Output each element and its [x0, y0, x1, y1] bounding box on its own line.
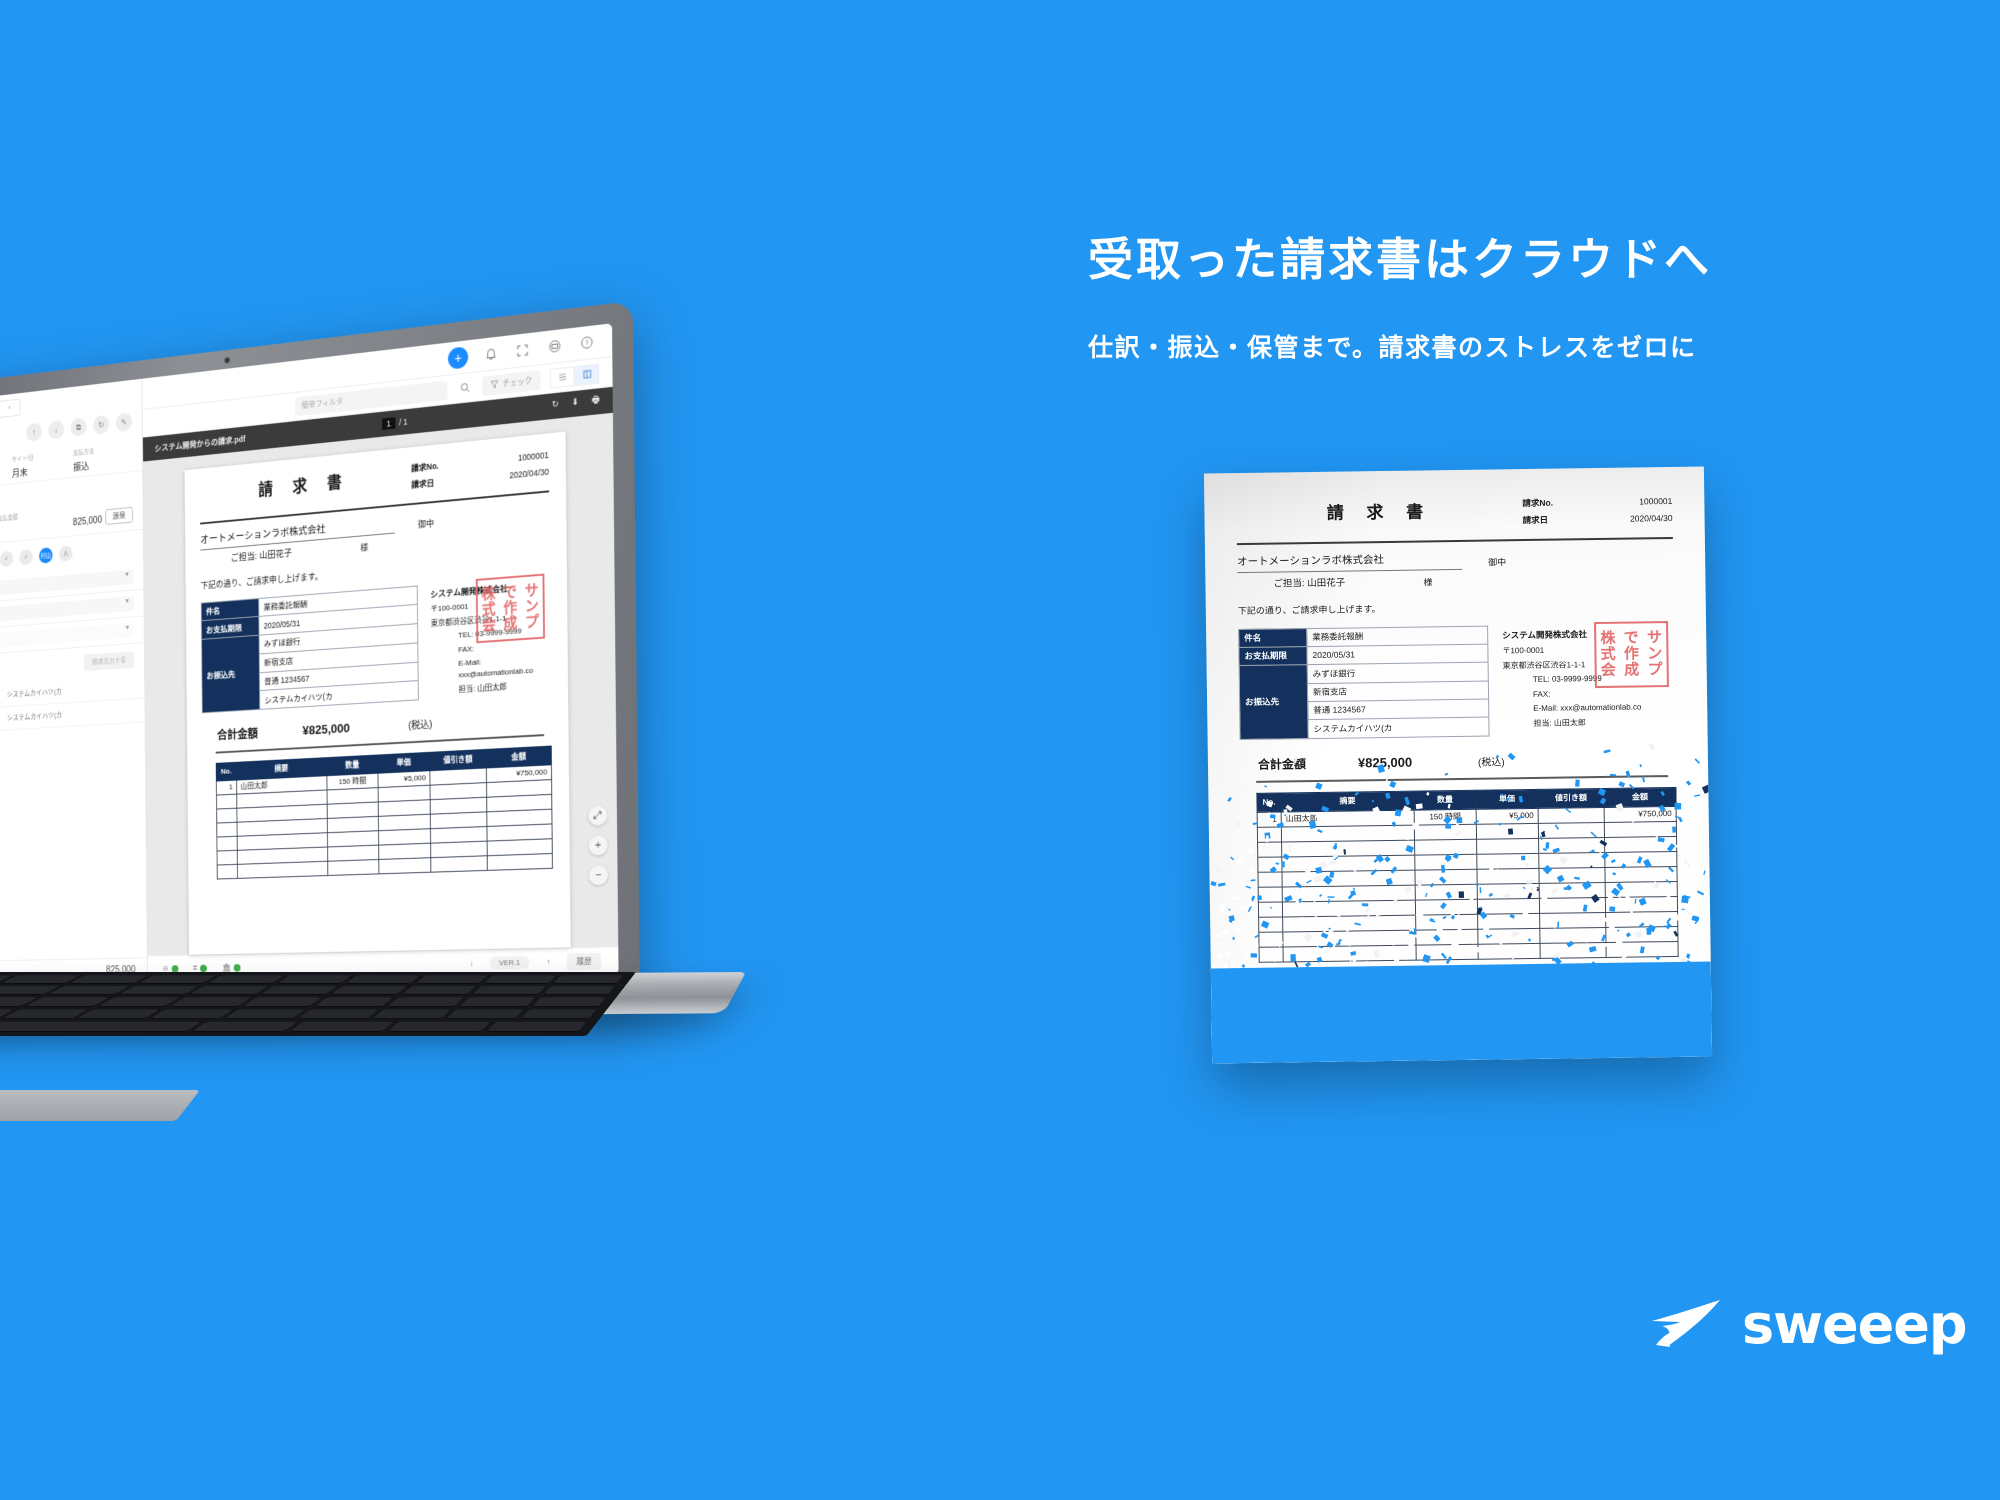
keyboard-key — [446, 1009, 524, 1019]
kv-val: システムカイハツ(カ — [1308, 717, 1489, 738]
hero-background: 受取った請求書はクラウドへ 仕訳・振込・保管まで。請求書のストレスをゼロに sw… — [0, 0, 2000, 1500]
seller-block: システム開発株式会社 〒100-0001 東京都渋谷区渋谷1-1-1 TEL: … — [430, 575, 551, 700]
key-row — [0, 986, 615, 995]
laptop-screen: 2020/09/30 ‹ 前月 › ↑ ↓ ⧉ ↻ — [0, 323, 619, 985]
total-label: 合計金額 — [217, 724, 303, 745]
list-view-icon[interactable] — [550, 366, 575, 388]
stamp-char: サ — [525, 583, 539, 599]
invoice-date-value: 2020/04/30 — [1630, 512, 1673, 525]
onchu-label: 御中 — [1488, 556, 1506, 569]
keyboard-key — [189, 986, 268, 995]
seller-email: E-Mail: xxx@automationlab.co — [1503, 701, 1675, 715]
cell-no: 1 — [216, 780, 236, 795]
col-qty: 数量 — [1414, 791, 1476, 810]
pdf-tool-buttons: ↻ ⬇ 🖶 — [552, 394, 600, 413]
stamp-char: 株 — [482, 586, 496, 602]
invoice-detail-pane: 2020/09/30 ‹ 前月 › ↑ ↓ ⧉ ↻ — [0, 379, 148, 986]
status-dot-green — [200, 964, 207, 972]
field-site-month[interactable]: サイト/月 1ヶ月後 — [0, 455, 9, 486]
keyboard-key — [97, 997, 179, 1006]
pdf-filename: システム開発からの請求.pdf — [154, 433, 245, 454]
filter-placeholder: 簡単フィルタ — [302, 396, 344, 411]
customer-name: オートメーションラボ株式会社 — [1237, 552, 1462, 573]
keyboard-key — [191, 1022, 297, 1032]
sweeep-app: 2020/09/30 ‹ 前月 › ↑ ↓ ⧉ ↻ — [0, 323, 619, 985]
keyboard-key — [542, 986, 614, 995]
laptop-mockup: 2020/09/30 ‹ 前月 › ↑ ↓ ⧉ ↻ — [0, 300, 1010, 1180]
col-no: No. — [1257, 793, 1281, 812]
onchu-label: 御中 — [418, 517, 434, 531]
stamp-char: 会 — [482, 618, 496, 634]
invoice-date-value: 2020/04/30 — [509, 466, 549, 482]
total-tax-note: (税込) — [408, 719, 432, 734]
cell-no: 1 — [1257, 812, 1281, 827]
col-desc: 摘要 — [1281, 791, 1414, 811]
avatar-assignee[interactable]: 村山 — [39, 547, 53, 564]
cell-disc — [1538, 807, 1604, 823]
hero-copy: 受取った請求書はクラウドへ 仕訳・振込・保管まで。請求書のストレスをゼロに — [1088, 234, 1868, 364]
approval-check-icon[interactable]: ✓ — [0, 550, 13, 566]
cell-unit: ¥5,000 — [1476, 808, 1538, 824]
invoice-title: 請 求 書 — [1236, 497, 1522, 528]
approval-check-icon[interactable]: ✓ — [19, 549, 33, 566]
seller-person: 担当: 山田太郎 — [1503, 716, 1675, 730]
sama-label: 様 — [360, 541, 368, 554]
keyboard-key — [207, 975, 284, 983]
keyboard-key — [276, 975, 351, 983]
divider — [1256, 775, 1668, 783]
keyboard-key — [259, 986, 336, 995]
invoice-total-row: 合計金額 ¥825,000 (税込) — [1240, 749, 1676, 774]
mail-icon[interactable] — [546, 336, 563, 356]
keyboard-key — [314, 997, 392, 1006]
kv-key: お振込先 — [1239, 665, 1308, 739]
plus-icon[interactable]: + — [448, 346, 468, 370]
divider — [1237, 537, 1673, 545]
laptop-keyboard — [0, 972, 636, 1036]
invoice-meta: 請求No.1000001 請求日2020/04/30 — [1522, 495, 1672, 532]
check-button[interactable]: チェック — [482, 370, 541, 396]
pdf-zoom-controls: ⤢ + − — [588, 805, 608, 885]
brand-name: sweeep — [1742, 1298, 1967, 1352]
field-payment-method[interactable]: 支払方法 振込 — [73, 442, 133, 474]
cell-qty: 150 時間 — [1414, 809, 1476, 825]
keyboard-key — [388, 1022, 490, 1032]
invoice-no-value: 1000001 — [518, 449, 549, 464]
stamp-char: 作 — [503, 600, 517, 616]
keyboard-key — [69, 975, 148, 983]
contact-label: ご担当: — [231, 551, 258, 564]
laptop-lid: 2020/09/30 ‹ 前月 › ↑ ↓ ⧉ ↻ — [0, 301, 640, 1008]
check-label: チェック — [502, 375, 532, 389]
print-icon[interactable]: 🖶 — [592, 394, 600, 409]
keyboard-key — [76, 1009, 160, 1019]
account-name: システムカイハツ(カ — [7, 710, 62, 723]
pdf-page-separator: / — [399, 417, 401, 427]
pdf-viewer-pane: + ? — [142, 323, 618, 981]
withholding-button[interactable]: 源泉 — [105, 507, 133, 525]
col-unit: 単価 — [1476, 790, 1538, 809]
field-site-day[interactable]: サイト/日 月末 — [12, 448, 70, 479]
invoice-meta: 請求No.1000001 請求日2020/04/30 — [411, 449, 549, 496]
keyboard-key — [414, 975, 487, 983]
svg-text:?: ? — [585, 340, 589, 348]
seller-block: システム開発株式会社 〒100-0001 東京都渋谷区渋谷1-1-1 TEL: … — [1502, 623, 1676, 736]
keyboard-key — [520, 1009, 596, 1019]
stamp-char: 式 — [1601, 647, 1616, 662]
invoice-title: 請 求 書 — [200, 463, 412, 509]
stamp-char: 会 — [1601, 663, 1616, 678]
stamp-char: サ — [1647, 630, 1662, 645]
invoice-items-table: No. 摘要 数量 単価 値引き額 金額 1 — [216, 746, 553, 880]
total-label: 合計金額 — [1258, 755, 1358, 774]
copy-icon[interactable]: ⧉ — [71, 417, 87, 437]
arrow-up-icon[interactable]: ↑ — [26, 422, 42, 442]
kv-key: 件名 — [1239, 628, 1307, 647]
history-button[interactable]: 履歴 — [567, 953, 601, 970]
invoice-detail-table: 件名業務委託報酬 お支払期限2020/05/31 お振込先みずほ銀行 新宿支店 … — [1238, 625, 1490, 739]
total-value: ¥825,000 — [1358, 752, 1478, 773]
stamp-char: ン — [525, 599, 539, 615]
keyboard-key — [372, 1009, 451, 1019]
stamp-char: 成 — [503, 616, 517, 632]
refresh-icon[interactable]: ↻ — [93, 415, 109, 435]
keyboard-key — [242, 997, 321, 1006]
keyboard-key — [401, 986, 476, 995]
keyboard-key — [330, 986, 406, 995]
pdf-current-page[interactable]: 1 — [382, 417, 395, 430]
sample-stamp-icon: 株式会 で作成 サンプ — [476, 573, 545, 643]
keyboard-key — [553, 975, 624, 983]
invoice-no-value: 1000001 — [1639, 495, 1672, 508]
keyboard-key — [290, 1022, 394, 1032]
download-icon[interactable]: ⬇ — [572, 397, 579, 412]
page-subtitle: 仕訳・振込・保管まで。請求書のストレスをゼロに — [1088, 328, 1868, 364]
keyboard-key — [1, 1009, 87, 1019]
expand-icon[interactable] — [514, 340, 531, 360]
rotate-icon[interactable]: ↻ — [552, 399, 559, 414]
fit-icon[interactable]: ⤢ — [588, 805, 607, 826]
col-no: No. — [216, 762, 236, 780]
help-icon[interactable]: ? — [578, 333, 595, 353]
invoice-no-label: 請求No. — [411, 460, 439, 475]
stamp-char: 成 — [1624, 663, 1639, 678]
col-disc: 値引き額 — [1538, 789, 1604, 809]
key-row — [0, 975, 623, 983]
version-badge[interactable]: VER.1 — [489, 956, 529, 969]
bank-icon: 🏛 — [222, 963, 231, 972]
stamp-char: で — [1624, 631, 1639, 646]
seller-fax: FAX: — [1503, 687, 1675, 701]
stamp-char: ン — [1647, 646, 1662, 661]
keyboard-key — [150, 1009, 233, 1019]
field-payment-amount[interactable]: 支払金額 825,000 — [0, 503, 102, 535]
keyboard-key — [224, 1009, 306, 1019]
stamp-char: 株 — [1600, 631, 1615, 646]
account-name: システムカイハツ(カ — [7, 686, 62, 700]
keyboard-key — [472, 986, 546, 995]
next-month-button[interactable]: › — [0, 399, 20, 417]
swoosh-icon — [1650, 1299, 1724, 1351]
stamp-char: 式 — [482, 602, 496, 618]
keyboard-key — [25, 997, 108, 1006]
funnel-icon — [490, 380, 498, 390]
keyboard-key — [459, 997, 535, 1006]
bell-icon[interactable] — [483, 344, 500, 363]
zoom-in-icon[interactable]: + — [589, 835, 608, 856]
keyboard-key — [47, 986, 128, 995]
kv-key: お支払期限 — [1239, 647, 1307, 666]
stamp-char: プ — [1647, 662, 1662, 677]
invoice-lead-text: 下記の通り、ご請求申し上げます。 — [1238, 599, 1674, 618]
keyboard-key — [0, 1022, 201, 1032]
contact-label: ご担当: — [1273, 578, 1304, 589]
keyboard-key — [484, 975, 556, 983]
sample-stamp-icon: 株式会 で作成 サンプ — [1594, 621, 1669, 688]
stamp-char: で — [503, 585, 517, 601]
webcam-icon — [225, 357, 230, 363]
invoice-items-table: No. 摘要 数量 単価 値引き額 金額 1 山田太郎 150 時間 ¥5,00… — [1256, 787, 1678, 962]
seller-email: E-Mail: xxx@automationlab.co — [431, 652, 551, 682]
status-dot-green — [234, 964, 241, 972]
invoice-detail-table: 件名業務委託報酬 お支払期限2020/05/31 お振込先みずほ銀行 新宿支店 … — [201, 585, 419, 713]
invoice-date-label: 請求日 — [1523, 514, 1549, 527]
zoom-out-icon[interactable]: − — [589, 865, 608, 885]
split-view-icon[interactable] — [574, 363, 599, 386]
keyboard-key — [170, 997, 251, 1006]
search-icon[interactable] — [456, 378, 473, 397]
keyboard-key — [118, 986, 198, 995]
edit-icon[interactable]: ✎ — [116, 412, 132, 432]
key-row — [0, 997, 606, 1006]
keyboard-key — [345, 975, 419, 983]
laptop-trackpad — [0, 1090, 200, 1121]
pdf-total-pages: 1 — [403, 417, 407, 427]
invoice-no-label: 請求No. — [1522, 497, 1553, 510]
keyboard-key — [298, 1009, 378, 1019]
stamp-char: プ — [525, 614, 539, 630]
keyboard-key — [486, 1022, 587, 1032]
pdf-page: 請 求 書 請求No.1000001 請求日2020/04/30 オートメーショ… — [185, 432, 571, 955]
keyboard-key — [387, 997, 464, 1006]
arrow-down-icon[interactable]: ↓ — [469, 959, 473, 968]
arrow-up-icon[interactable]: ↑ — [546, 958, 550, 967]
floating-invoice-document: 請 求 書 請求No.1000001 請求日2020/04/30 オートメーショ… — [1204, 467, 1712, 1064]
keyboard-key — [531, 997, 605, 1006]
invoice-date-label: 請求日 — [411, 477, 434, 491]
cell-amount: ¥750,000 — [1604, 806, 1676, 822]
field-value: 月末 — [12, 460, 70, 480]
sama-label: 様 — [1423, 576, 1432, 589]
col-amount: 金額 — [1604, 788, 1676, 808]
status-bank[interactable]: 🏛 — [222, 963, 241, 972]
key-row — [0, 1022, 586, 1032]
invoice-total-row: 合計金額 ¥825,000 (税込) — [202, 708, 552, 746]
pdf-canvas[interactable]: 請 求 書 請求No.1000001 請求日2020/04/30 オートメーショ… — [143, 413, 618, 956]
brand-logo: sweeep — [1650, 1290, 1940, 1360]
keyboard-key — [138, 975, 216, 983]
page-title: 受取った請求書はクラウドへ — [1088, 234, 1868, 286]
stamp-char: 作 — [1624, 647, 1639, 662]
avatar[interactable]: ⋀ — [59, 545, 73, 562]
search-input[interactable]: 請求元カナ名 — [84, 651, 134, 671]
contact-name: 山田花子 — [1307, 577, 1345, 589]
arrow-down-icon[interactable]: ↓ — [48, 420, 64, 440]
field-value: 振込 — [73, 453, 132, 473]
key-row — [0, 1009, 596, 1019]
kv-key: お振込先 — [202, 635, 260, 713]
field-value: 1ヶ月後 — [0, 467, 9, 486]
contact-name: 山田花子 — [259, 548, 292, 561]
total-tax-note: (税込) — [1478, 756, 1505, 771]
total-value: ¥825,000 — [302, 716, 408, 740]
view-toggle[interactable] — [550, 363, 599, 388]
keyboard-key — [0, 975, 80, 983]
